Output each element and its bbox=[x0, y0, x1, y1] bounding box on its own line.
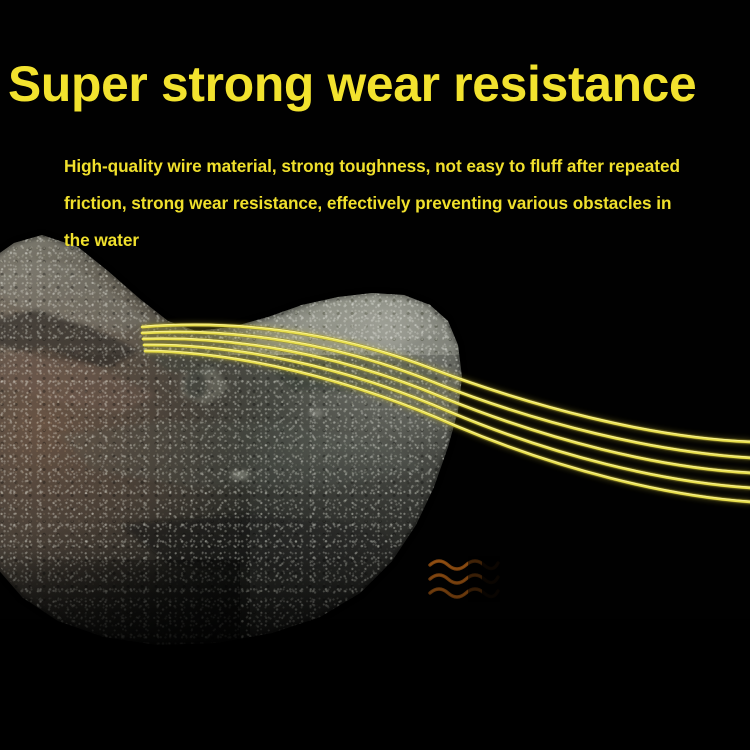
page-title: Super strong wear resistance bbox=[8, 58, 744, 110]
description-text: High-quality wire material, strong tough… bbox=[64, 148, 696, 259]
boulder-shape bbox=[0, 225, 500, 750]
product-banner: Super strong wear resistance High-qualit… bbox=[0, 0, 750, 750]
granite-boulder bbox=[0, 225, 500, 750]
